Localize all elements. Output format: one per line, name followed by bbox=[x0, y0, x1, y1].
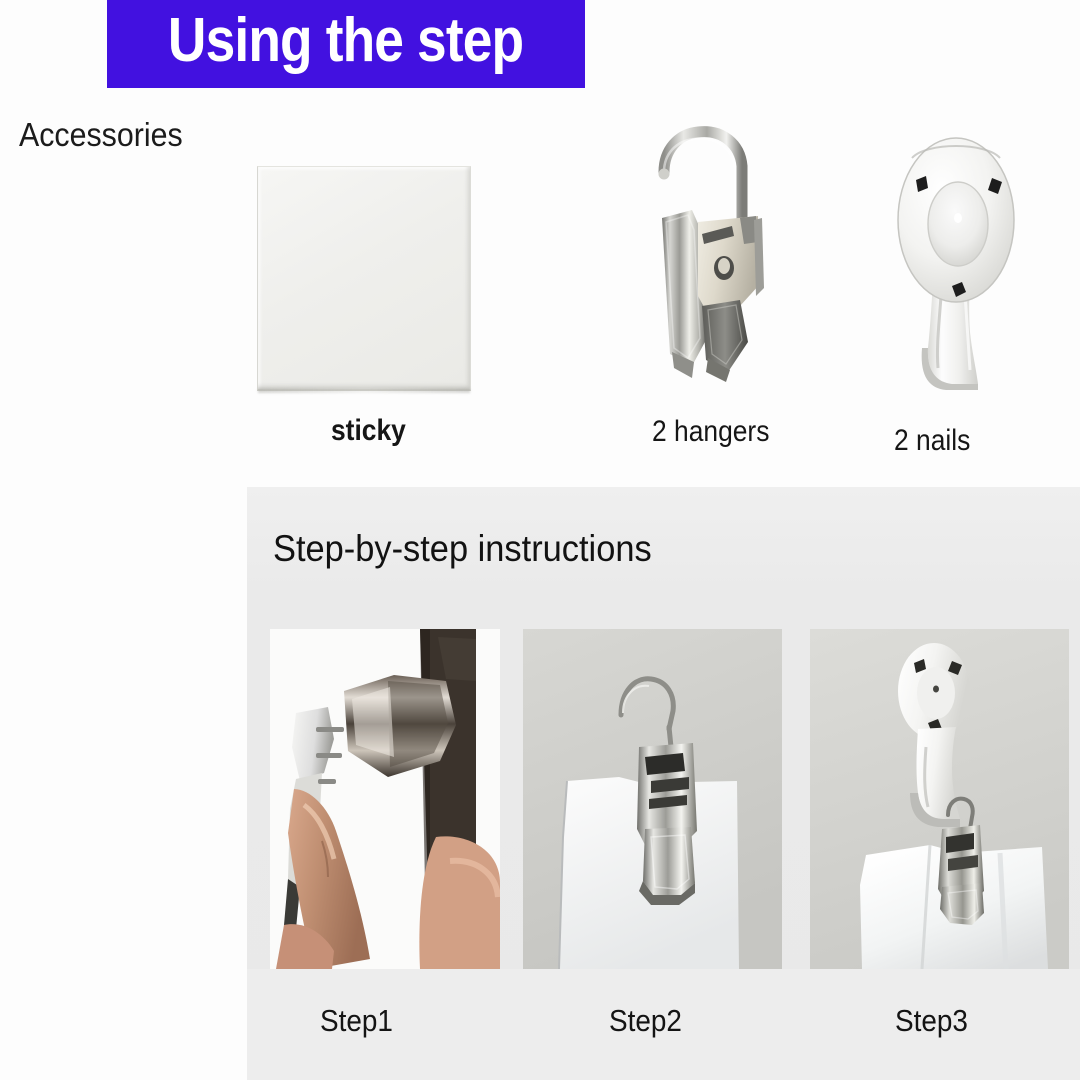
step-2-label: Step2 bbox=[609, 1003, 682, 1039]
title-banner: Using the step bbox=[107, 0, 585, 88]
accessories-section-label: Accessories bbox=[19, 116, 183, 154]
wall-hook-icon bbox=[872, 132, 1042, 394]
accessory-label-nails: 2 nails bbox=[894, 424, 970, 458]
step-1-photo bbox=[270, 629, 500, 969]
adhesive-square-icon bbox=[257, 166, 471, 391]
step-3-label: Step3 bbox=[895, 1003, 968, 1039]
step-1-label: Step1 bbox=[320, 1003, 393, 1039]
accessory-label-hangers: 2 hangers bbox=[652, 415, 769, 449]
hook-clip-icon bbox=[636, 110, 812, 400]
instructions-heading: Step-by-step instructions bbox=[273, 528, 652, 570]
page-title: Using the step bbox=[168, 10, 523, 78]
step-2-photo bbox=[523, 629, 782, 969]
step-3-photo bbox=[810, 629, 1069, 969]
infographic-page: Using the step Accessories sticky bbox=[0, 0, 1080, 1080]
accessory-label-sticky: sticky bbox=[331, 414, 406, 448]
